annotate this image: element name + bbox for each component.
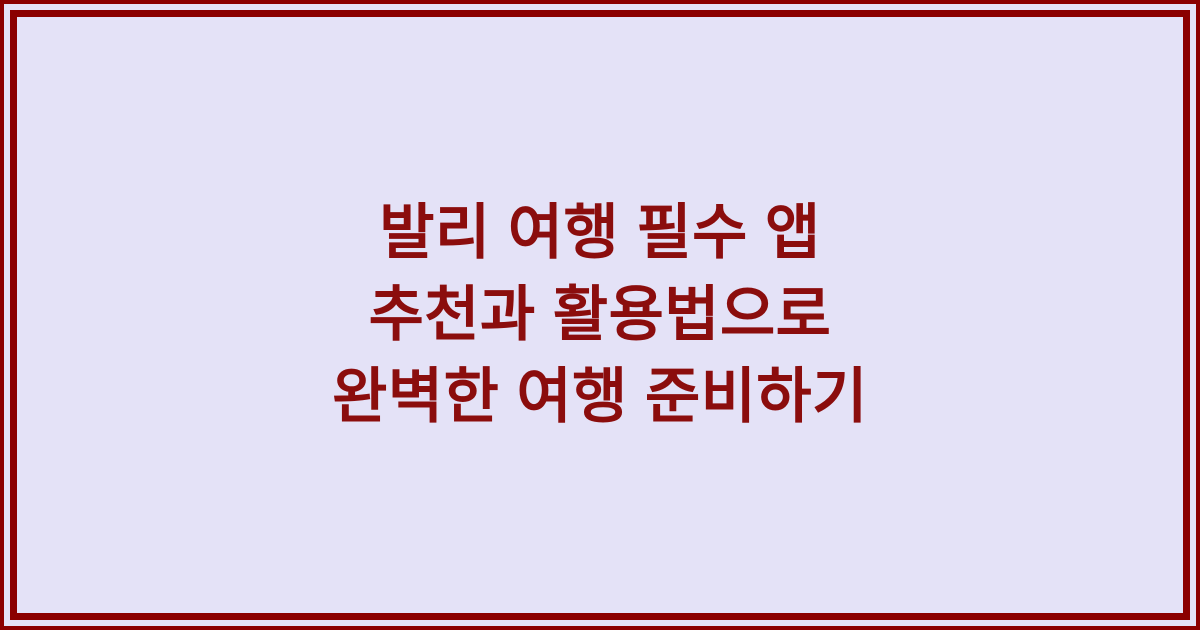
page-title-line-2: 추천과 활용법으로 <box>57 274 1143 356</box>
page-title: 발리 여행 필수 앱 추천과 활용법으로 완벽한 여행 준비하기 <box>17 192 1183 438</box>
banner-card: 발리 여행 필수 앱 추천과 활용법으로 완벽한 여행 준비하기 <box>0 0 1200 630</box>
banner-inner-frame: 발리 여행 필수 앱 추천과 활용법으로 완벽한 여행 준비하기 <box>10 10 1190 620</box>
page-title-line-3: 완벽한 여행 준비하기 <box>57 356 1143 438</box>
page-title-line-1: 발리 여행 필수 앱 <box>57 192 1143 274</box>
